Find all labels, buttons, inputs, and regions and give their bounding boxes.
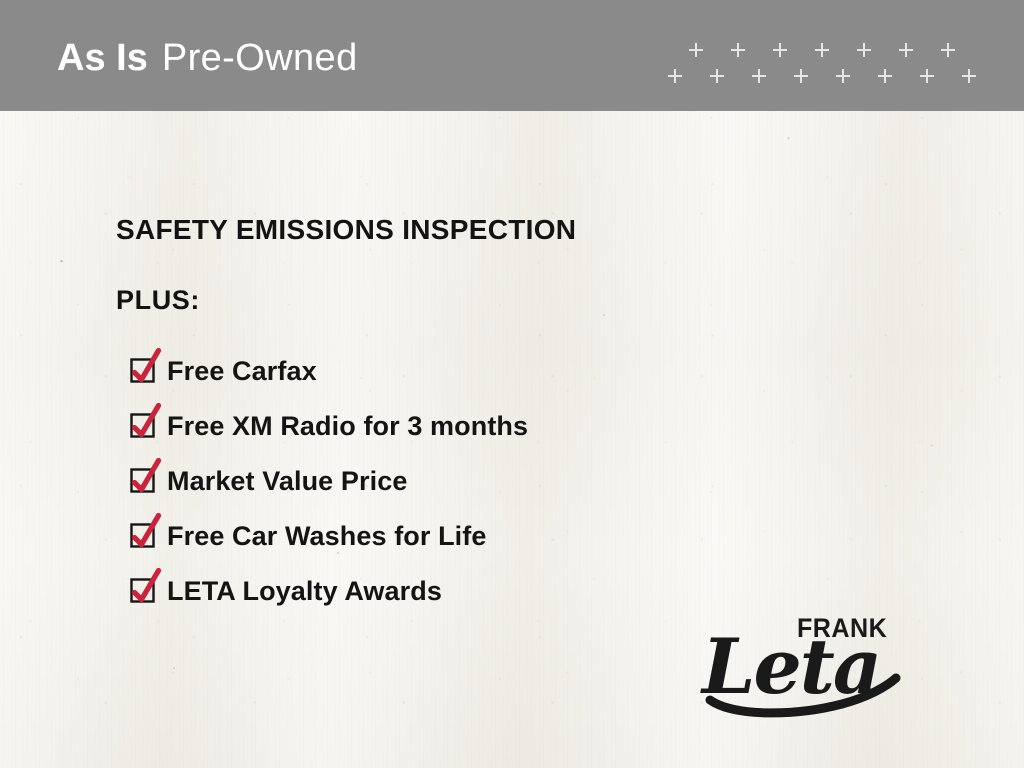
plus-icon	[708, 68, 750, 84]
page-title: As IsPre-Owned	[57, 36, 358, 80]
plus-icon	[729, 42, 771, 58]
list-item-label: Market Value Price	[167, 466, 407, 496]
list-item: Market Value Price	[131, 453, 831, 508]
plus-decoration-row-top	[666, 42, 1023, 58]
checkbox-checked-icon	[131, 359, 154, 382]
plus-icon	[939, 42, 981, 58]
plus-icon	[687, 42, 729, 58]
plus-icon	[750, 68, 792, 84]
plus-icon	[897, 42, 939, 58]
plus-icon	[813, 42, 855, 58]
list-item-label: Free Carfax	[167, 356, 317, 386]
benefits-checklist: Free Carfax Free XM Radio for 3 months	[131, 343, 831, 618]
frank-leta-logo: FRANK Leta	[700, 604, 920, 726]
plus-decoration-pattern	[666, 38, 1002, 92]
plus-icon	[792, 68, 834, 84]
plus-icon	[876, 68, 918, 84]
plus-icon	[918, 68, 960, 84]
list-item: Free XM Radio for 3 months	[131, 398, 831, 453]
list-item-label: LETA Loyalty Awards	[167, 576, 442, 606]
plus-decoration-row-bottom	[666, 68, 1002, 84]
list-item: Free Car Washes for Life	[131, 508, 831, 563]
plus-icon	[666, 68, 708, 84]
plus-icon	[771, 42, 813, 58]
logo-wordmark-leta: Leta	[702, 626, 880, 708]
list-item: Free Carfax	[131, 343, 831, 398]
list-item-label: Free Car Washes for Life	[167, 521, 487, 551]
section-subheading: PLUS:	[116, 285, 200, 316]
checkbox-checked-icon	[131, 524, 154, 547]
list-item-label: Free XM Radio for 3 months	[167, 411, 528, 441]
header-bar: As IsPre-Owned	[0, 0, 1024, 111]
plus-icon	[960, 68, 1002, 84]
page-title-light: Pre-Owned	[162, 37, 358, 79]
plus-icon	[855, 42, 897, 58]
checkbox-checked-icon	[131, 469, 154, 492]
slide-canvas: As IsPre-Owned	[0, 0, 1024, 768]
checkbox-checked-icon	[131, 414, 154, 437]
section-heading: SAFETY EMISSIONS INSPECTION	[116, 214, 576, 246]
page-title-strong: As Is	[57, 37, 148, 79]
plus-icon	[834, 68, 876, 84]
checkbox-checked-icon	[131, 579, 154, 602]
